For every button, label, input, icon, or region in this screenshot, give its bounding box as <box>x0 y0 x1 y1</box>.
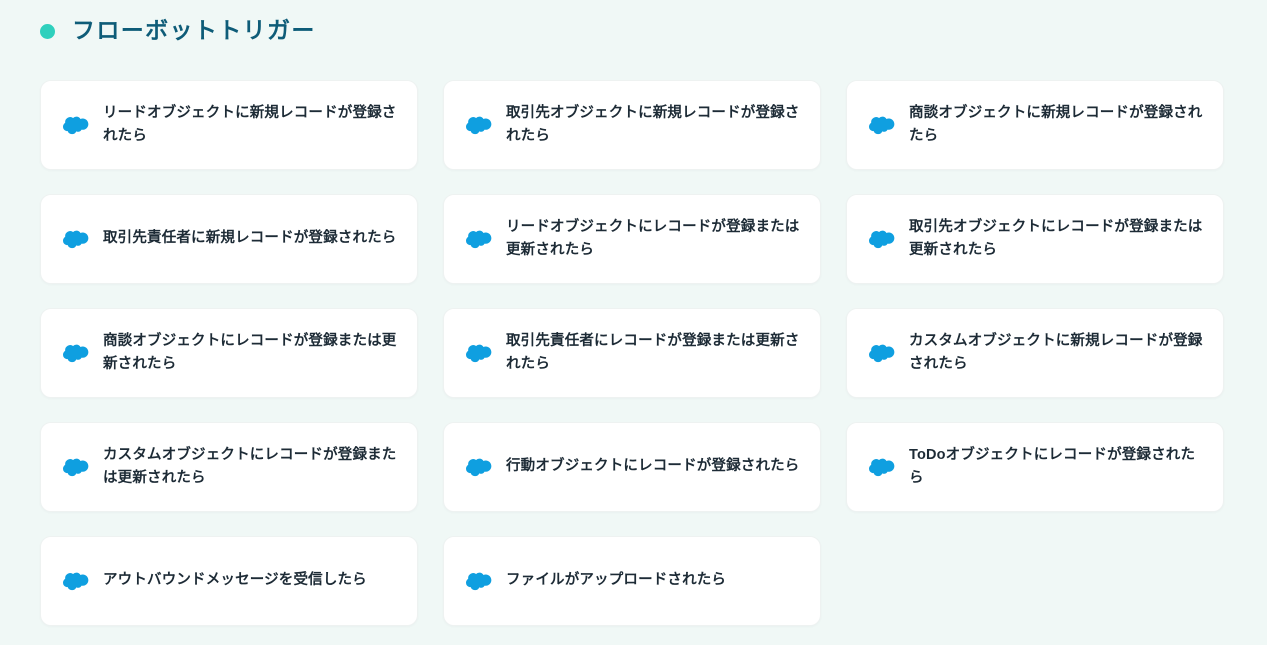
salesforce-cloud-icon <box>869 112 895 138</box>
salesforce-cloud-icon <box>869 340 895 366</box>
trigger-card-label: リードオブジェクトにレコードが登録または更新されたら <box>506 216 806 263</box>
trigger-card-label: ファイルがアップロードされたら <box>506 569 726 592</box>
trigger-card-label: 行動オブジェクトにレコードが登録されたら <box>506 455 799 478</box>
trigger-card-label: ToDoオブジェクトにレコードが登録されたら <box>909 444 1209 491</box>
trigger-card[interactable]: 取引先責任者にレコードが登録または更新されたら <box>443 308 821 398</box>
salesforce-cloud-icon <box>63 454 89 480</box>
salesforce-cloud-icon <box>869 454 895 480</box>
trigger-card-label: 取引先オブジェクトにレコードが登録または更新されたら <box>909 216 1209 263</box>
trigger-card[interactable]: カスタムオブジェクトにレコードが登録または更新されたら <box>40 422 418 512</box>
trigger-card-label: 取引先責任者にレコードが登録または更新されたら <box>506 330 806 377</box>
bullet-dot-icon <box>40 24 55 39</box>
trigger-card-label: 商談オブジェクトに新規レコードが登録されたら <box>909 102 1209 149</box>
salesforce-cloud-icon <box>466 226 492 252</box>
salesforce-cloud-icon <box>466 568 492 594</box>
trigger-card[interactable]: 行動オブジェクトにレコードが登録されたら <box>443 422 821 512</box>
salesforce-cloud-icon <box>63 568 89 594</box>
trigger-card-label: カスタムオブジェクトに新規レコードが登録されたら <box>909 330 1209 377</box>
flowbot-trigger-page: フローボットトリガー リードオブジェクトに新規レコードが登録されたら取引先オブジ… <box>0 0 1267 645</box>
salesforce-cloud-icon <box>466 454 492 480</box>
trigger-card[interactable]: アウトバウンドメッセージを受信したら <box>40 536 418 626</box>
salesforce-cloud-icon <box>466 340 492 366</box>
trigger-card-label: 取引先オブジェクトに新規レコードが登録されたら <box>506 102 806 149</box>
trigger-card-label: 商談オブジェクトにレコードが登録または更新されたら <box>103 330 403 377</box>
page-title: フローボットトリガー <box>72 17 316 45</box>
trigger-card[interactable]: 取引先オブジェクトにレコードが登録または更新されたら <box>846 194 1224 284</box>
trigger-card-grid: リードオブジェクトに新規レコードが登録されたら取引先オブジェクトに新規レコードが… <box>0 44 1267 626</box>
salesforce-cloud-icon <box>63 112 89 138</box>
trigger-card[interactable]: カスタムオブジェクトに新規レコードが登録されたら <box>846 308 1224 398</box>
trigger-card-label: 取引先責任者に新規レコードが登録されたら <box>103 227 396 250</box>
trigger-card[interactable]: 取引先オブジェクトに新規レコードが登録されたら <box>443 80 821 170</box>
trigger-card[interactable]: 商談オブジェクトにレコードが登録または更新されたら <box>40 308 418 398</box>
salesforce-cloud-icon <box>63 226 89 252</box>
salesforce-cloud-icon <box>63 340 89 366</box>
salesforce-cloud-icon <box>466 112 492 138</box>
trigger-card[interactable]: ToDoオブジェクトにレコードが登録されたら <box>846 422 1224 512</box>
trigger-card[interactable]: ファイルがアップロードされたら <box>443 536 821 626</box>
trigger-card-label: アウトバウンドメッセージを受信したら <box>103 569 367 592</box>
trigger-card[interactable]: 商談オブジェクトに新規レコードが登録されたら <box>846 80 1224 170</box>
trigger-card[interactable]: リードオブジェクトに新規レコードが登録されたら <box>40 80 418 170</box>
trigger-card-label: カスタムオブジェクトにレコードが登録または更新されたら <box>103 444 403 491</box>
trigger-card[interactable]: 取引先責任者に新規レコードが登録されたら <box>40 194 418 284</box>
salesforce-cloud-icon <box>869 226 895 252</box>
section-header: フローボットトリガー <box>0 0 1267 44</box>
trigger-card-label: リードオブジェクトに新規レコードが登録されたら <box>103 102 403 149</box>
trigger-card[interactable]: リードオブジェクトにレコードが登録または更新されたら <box>443 194 821 284</box>
